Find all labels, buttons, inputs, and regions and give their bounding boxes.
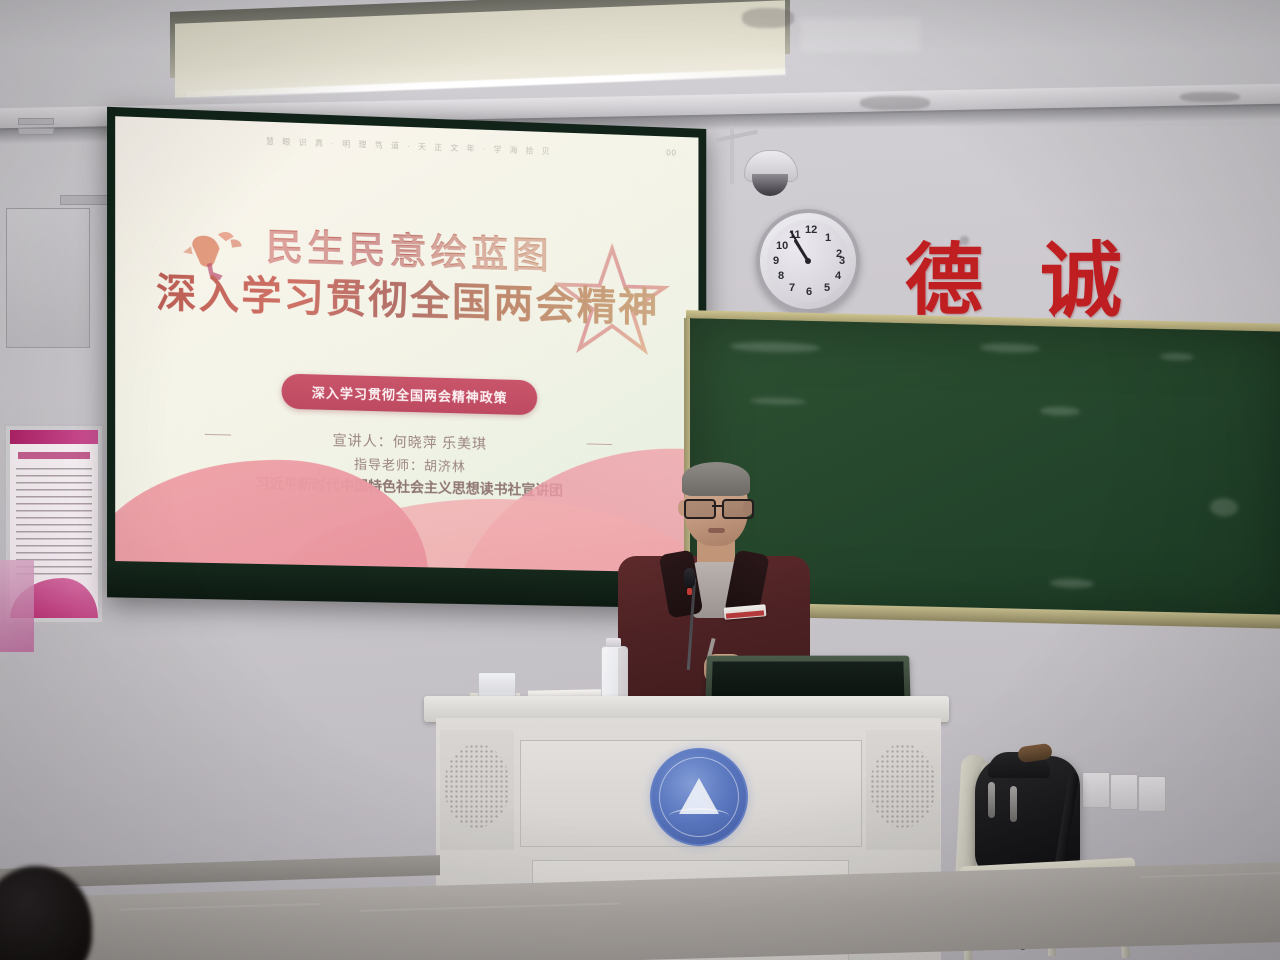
- slide-subtitle-pill: 深入学习贯彻全国两会精神政策: [282, 373, 538, 415]
- clock-num-9: 9: [773, 255, 779, 267]
- clock-num-3: 3: [839, 255, 845, 267]
- wall-poster-secondary: [0, 560, 34, 652]
- wall-calligraphy-cheng: 诚: [1040, 214, 1122, 333]
- microphone-indicator: [687, 588, 692, 595]
- clock-num-8: 8: [778, 270, 784, 282]
- slide-header-page: 00: [666, 148, 677, 157]
- slide-title-block: 民生民意绘蓝图 深入学习贯彻全国两会精神: [115, 221, 698, 332]
- microphone-icon: [684, 568, 695, 588]
- speaker-mouth: [708, 528, 725, 533]
- projected-slide: 慧 眼 识 真 · 明 理 笃 道 · 天 正 文 年 · 学 海 拾 贝 00: [115, 116, 698, 573]
- clock-num-1: 1: [825, 232, 831, 244]
- wall-bracket: [18, 118, 54, 125]
- speaker-grille-right: [870, 744, 936, 828]
- clock-face: 12 1 2 3 4 5 6 7 8 9 10 11: [767, 220, 849, 302]
- light-switch[interactable]: [1138, 776, 1166, 812]
- wall-clock: 12 1 2 3 4 5 6 7 8 9 10 11: [756, 209, 860, 313]
- clock-num-7: 7: [789, 282, 795, 294]
- wall-mark: [742, 8, 794, 28]
- wall-patch: [800, 18, 920, 52]
- wall-calligraphy-de: 德: [905, 218, 983, 330]
- wall-bracket: [18, 128, 54, 135]
- clock-num-5: 5: [824, 282, 830, 294]
- backpack-zipper: [1010, 786, 1017, 822]
- clock-center-pin: [805, 258, 811, 264]
- clock-num-4: 4: [835, 270, 841, 282]
- classroom-scene: 慧 眼 识 真 · 明 理 笃 道 · 天 正 文 年 · 学 海 拾 贝 00: [0, 0, 1280, 960]
- wall-mark: [860, 96, 930, 110]
- light-switch[interactable]: [1082, 772, 1110, 808]
- wall-panel-box: [6, 208, 90, 348]
- speaker-grille-left: [444, 744, 510, 828]
- light-switch[interactable]: [1110, 774, 1138, 810]
- clock-num-12: 12: [805, 224, 817, 236]
- eyeglasses-icon: [682, 499, 752, 515]
- wall-mark: [1180, 92, 1240, 102]
- speaker-hair: [682, 462, 750, 496]
- backpack-zipper: [988, 782, 995, 818]
- clock-num-10: 10: [776, 240, 788, 252]
- slide-micro-header: 慧 眼 识 真 · 明 理 笃 道 · 天 正 文 年 · 学 海 拾 贝: [115, 130, 698, 162]
- school-emblem-icon: [650, 748, 748, 846]
- clock-num-6: 6: [806, 286, 812, 298]
